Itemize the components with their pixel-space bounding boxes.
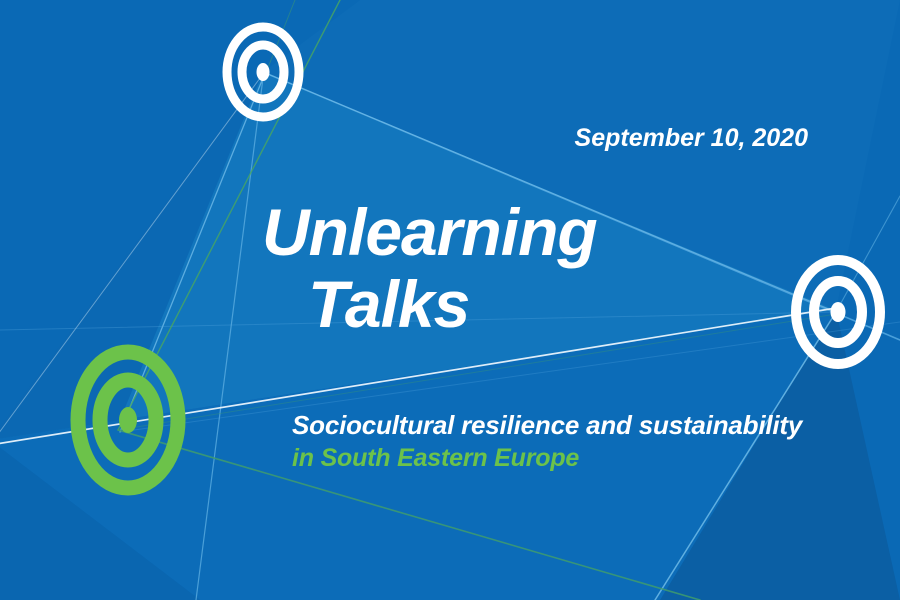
bullseye-target-icon-top-left [227,27,299,117]
title-line-1: Unlearning [262,196,597,268]
subtitle: Sociocultural resilience and sustainabil… [292,409,802,474]
page-title: Unlearning Talks [262,196,597,340]
event-poster: September 10, 2020 Unlearning Talks Soci… [0,0,900,600]
subtitle-line-1: Sociocultural resilience and sustainabil… [292,409,802,442]
event-date: September 10, 2020 [575,124,808,153]
subtitle-line-2: in South Eastern Europe [292,442,802,474]
title-line-2: Talks [308,268,597,340]
